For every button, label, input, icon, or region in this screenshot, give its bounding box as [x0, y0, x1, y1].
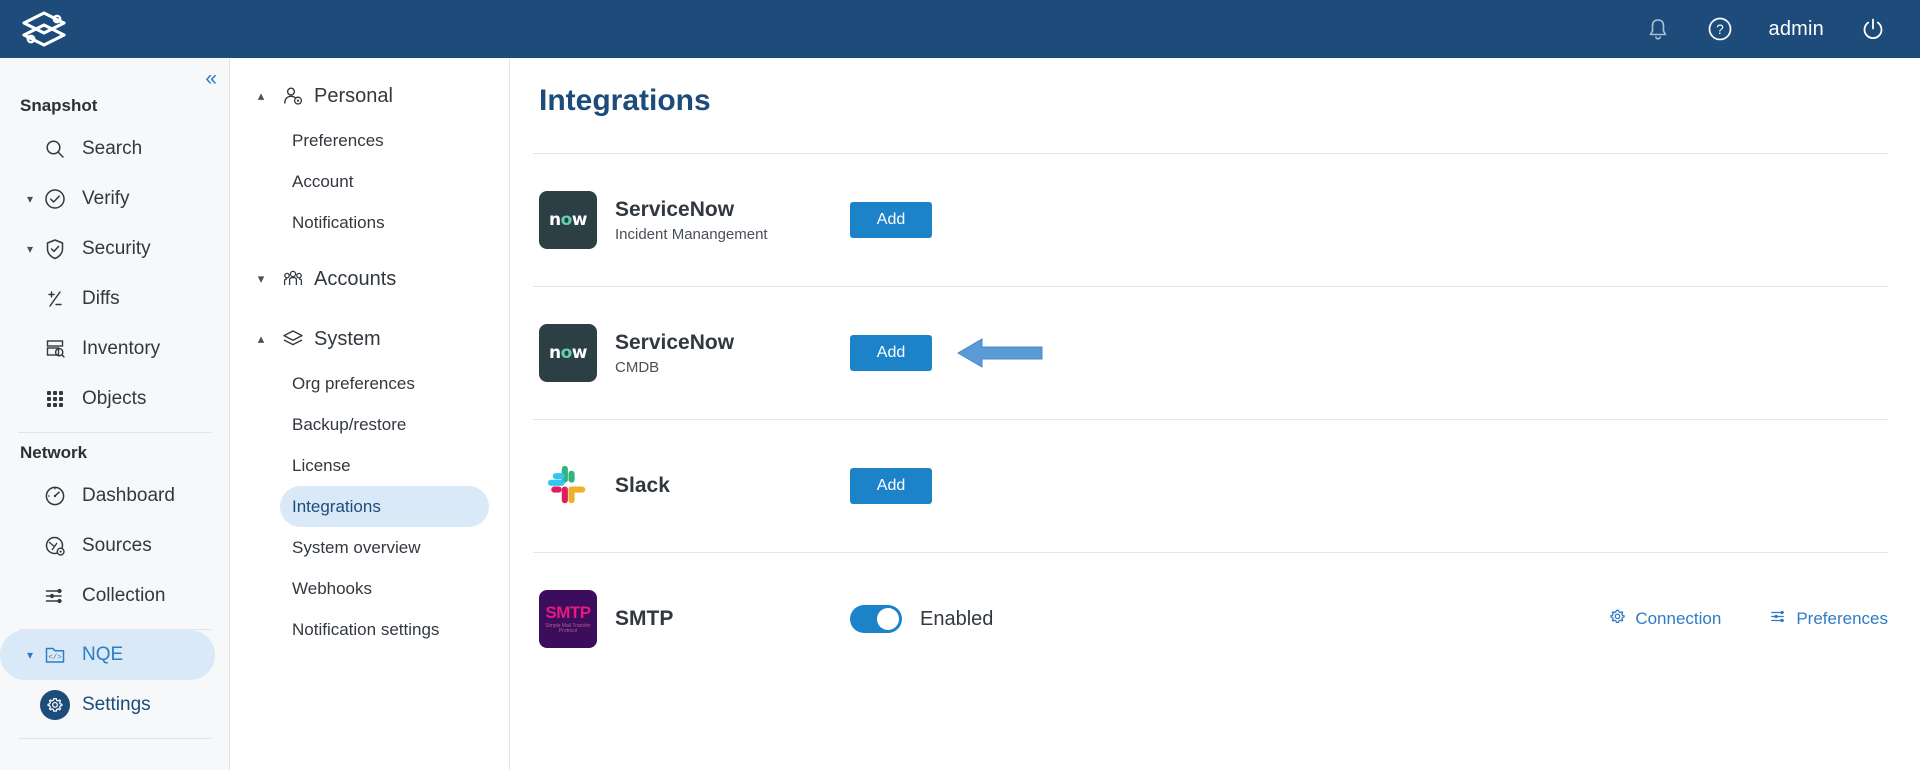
sidebar-item-label: Objects — [82, 388, 146, 410]
integration-names: ServiceNow CMDB — [615, 330, 815, 375]
sliders-icon — [1769, 607, 1788, 631]
smtp-enabled-toggle[interactable] — [850, 605, 902, 633]
settings-nav-item-org-preferences[interactable]: Org preferences — [280, 363, 489, 404]
integration-names: ServiceNow Incident Manangement — [615, 197, 815, 242]
gauge-icon — [40, 483, 70, 509]
settings-group-label: System — [314, 328, 381, 351]
sidebar-item-label: Settings — [82, 694, 151, 716]
add-button[interactable]: Add — [850, 202, 932, 238]
sidebar-divider-footer — [18, 738, 211, 739]
shield-check-icon — [40, 236, 70, 262]
settings-nav-item-license[interactable]: License — [280, 445, 489, 486]
sources-icon — [40, 533, 70, 559]
servicenow-logo-icon: now — [539, 191, 597, 249]
smtp-logo-text: SMTP — [545, 604, 590, 621]
settings-nav-item-label: Webhooks — [292, 579, 372, 599]
header-actions: ? admin — [1645, 16, 1886, 42]
app-header: ? admin — [0, 0, 1920, 58]
integration-names: Slack — [615, 473, 815, 499]
integration-row: now ServiceNow Incident Manangement Add — [533, 153, 1888, 286]
preferences-link[interactable]: Preferences — [1769, 607, 1888, 631]
preferences-label: Preferences — [1796, 609, 1888, 629]
check-circle-icon — [40, 186, 70, 212]
sidebar-item-label: Search — [82, 138, 142, 160]
diffs-icon — [40, 286, 70, 312]
chevron-up-icon[interactable]: ▴ — [250, 331, 272, 347]
toggle-label: Enabled — [920, 608, 993, 631]
sidebar-item-objects[interactable]: Objects — [0, 374, 215, 424]
smtp-toggle-group: Enabled — [850, 605, 993, 633]
inventory-icon — [40, 336, 70, 362]
settings-nav-item-account[interactable]: Account — [280, 161, 489, 202]
settings-group-system[interactable]: ▴ System — [230, 315, 509, 363]
gear-icon — [40, 690, 70, 720]
sidebar-item-label: Dashboard — [82, 485, 175, 507]
sidebar-section-title-network: Network — [0, 443, 229, 463]
power-icon[interactable] — [1860, 16, 1886, 42]
settings-nav-item-label: Notifications — [292, 213, 385, 233]
username-label[interactable]: admin — [1769, 18, 1824, 41]
sidebar-item-label: Security — [82, 238, 151, 260]
servicenow-logo-text: now — [549, 343, 587, 363]
settings-nav-item-backup-restore[interactable]: Backup/restore — [280, 404, 489, 445]
code-folder-icon: </> — [40, 642, 70, 668]
integration-subtitle: Incident Manangement — [615, 226, 815, 243]
gear-icon — [1608, 607, 1627, 631]
settings-nav-item-system-overview[interactable]: System overview — [280, 527, 489, 568]
sidebar-item-search[interactable]: Search — [0, 124, 215, 174]
settings-nav-item-label: System overview — [292, 538, 420, 558]
settings-group-accounts[interactable]: ▾ Accounts — [230, 255, 509, 303]
toggle-knob — [877, 608, 899, 630]
settings-group-label: Accounts — [314, 268, 396, 291]
objects-grid-icon — [40, 386, 70, 412]
sidebar-item-verify[interactable]: ▾ Verify — [0, 174, 215, 224]
sidebar-section-title-snapshot: Snapshot — [0, 96, 229, 116]
connection-label: Connection — [1635, 609, 1721, 629]
settings-nav-item-preferences[interactable]: Preferences — [280, 120, 489, 161]
chevron-down-icon[interactable]: ▾ — [20, 192, 40, 206]
integration-title: Slack — [615, 473, 815, 499]
people-icon — [280, 267, 306, 291]
smtp-logo-icon: SMTP Simple Mail Transfer Protocol — [539, 590, 597, 648]
chevron-double-left-icon[interactable]: « — [205, 68, 215, 89]
settings-nav-item-label: Backup/restore — [292, 415, 406, 435]
chevron-down-icon[interactable]: ▾ — [20, 242, 40, 256]
settings-nav-item-label: Account — [292, 172, 353, 192]
settings-nav-item-integrations[interactable]: Integrations — [280, 486, 489, 527]
sidebar-item-dashboard[interactable]: Dashboard — [0, 471, 215, 521]
settings-group-label: Personal — [314, 85, 393, 108]
settings-nav-item-label: Integrations — [292, 497, 381, 517]
servicenow-logo-icon: now — [539, 324, 597, 382]
smtp-logo-subtext: Simple Mail Transfer Protocol — [539, 624, 597, 634]
chevron-down-icon[interactable]: ▾ — [20, 648, 40, 662]
integration-title: ServiceNow — [615, 197, 815, 223]
connection-link[interactable]: Connection — [1608, 607, 1721, 631]
layers-logo-icon[interactable] — [18, 9, 70, 49]
sidebar-item-nqe[interactable]: ▾ </> NQE — [0, 630, 215, 680]
user-gear-icon — [280, 84, 306, 108]
sidebar-item-collection[interactable]: Collection — [0, 571, 215, 621]
sidebar-item-label: Sources — [82, 535, 152, 557]
integration-title: SMTP — [615, 606, 815, 632]
sidebar-item-settings[interactable]: Settings — [0, 680, 215, 730]
main-content: Integrations now ServiceNow Incident Man… — [511, 58, 1920, 770]
integration-subtitle: CMDB — [615, 359, 815, 376]
sidebar-item-label: Diffs — [82, 288, 120, 310]
help-circle-icon[interactable]: ? — [1707, 16, 1733, 42]
settings-group-personal[interactable]: ▴ Personal — [230, 72, 509, 120]
add-button[interactable]: Add — [850, 335, 932, 371]
settings-nav-item-label: Notification settings — [292, 620, 439, 640]
svg-text:</>: </> — [48, 654, 62, 662]
sidebar-item-label: NQE — [82, 644, 123, 666]
integration-names: SMTP — [615, 606, 815, 632]
sidebar-item-diffs[interactable]: Diffs — [0, 274, 215, 324]
settings-nav-item-notifications[interactable]: Notifications — [280, 202, 489, 243]
integration-title: ServiceNow — [615, 330, 815, 356]
integration-row: now ServiceNow CMDB Add — [533, 286, 1888, 419]
sidebar-item-security[interactable]: ▾ Security — [0, 224, 215, 274]
chevron-down-icon[interactable]: ▾ — [250, 271, 272, 287]
sidebar-divider — [18, 432, 211, 433]
sidebar-item-label: Collection — [82, 585, 165, 607]
settings-nav-item-label: License — [292, 456, 351, 476]
layers-icon — [280, 327, 306, 351]
sidebar-item-inventory[interactable]: Inventory — [0, 324, 215, 374]
sidebar-item-label: Verify — [82, 188, 130, 210]
integration-row: Slack Add — [533, 419, 1888, 552]
add-button[interactable]: Add — [850, 468, 932, 504]
settings-nav-panel: ▴ Personal Preferences Account Notificat… — [230, 58, 510, 770]
settings-nav-item-label: Preferences — [292, 131, 384, 151]
slack-logo-icon — [539, 457, 597, 515]
smtp-row-actions: Connection Preferences — [1608, 607, 1888, 631]
page-title: Integrations — [539, 84, 1888, 118]
bell-icon[interactable] — [1645, 16, 1671, 42]
settings-nav-item-notification-settings[interactable]: Notification settings — [280, 609, 489, 650]
servicenow-logo-text: now — [549, 210, 587, 230]
integration-row: SMTP Simple Mail Transfer Protocol SMTP … — [533, 552, 1888, 685]
svg-text:?: ? — [1716, 22, 1724, 37]
primary-sidebar: « Snapshot Search ▾ Verify ▾ — [0, 58, 230, 770]
left-arrow-annotation — [956, 333, 1044, 373]
settings-nav-item-label: Org preferences — [292, 374, 415, 394]
chevron-up-icon[interactable]: ▴ — [250, 88, 272, 104]
sliders-icon — [40, 583, 70, 609]
sidebar-item-sources[interactable]: Sources — [0, 521, 215, 571]
search-icon — [40, 136, 70, 162]
sidebar-item-label: Inventory — [82, 338, 160, 360]
settings-nav-item-webhooks[interactable]: Webhooks — [280, 568, 489, 609]
